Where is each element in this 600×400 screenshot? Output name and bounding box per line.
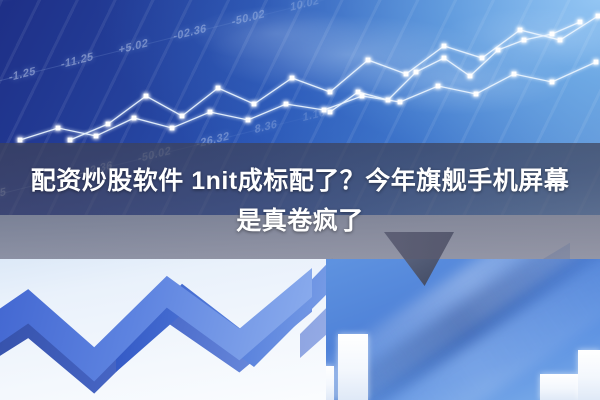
caption-band: 配资炒股软件 1nit成标配了？今年旗舰手机屏幕 是真卷疯了	[0, 143, 600, 259]
chart-bar	[578, 350, 600, 400]
page-title: 配资炒股软件 1nit成标配了？今年旗舰手机屏幕 是真卷疯了	[20, 161, 580, 241]
chart-bar	[326, 366, 334, 400]
cover-image: -69.02-05.35-11.25+5.02-02.3621.0545.02-…	[0, 0, 600, 400]
chart-bar	[540, 374, 578, 400]
title-line-2: 是真卷疯了	[20, 201, 580, 241]
chart-bar	[338, 334, 368, 400]
bar-chart-panel	[326, 259, 600, 400]
title-line-1: 配资炒股软件 1nit成标配了？今年旗舰手机屏幕	[31, 167, 569, 195]
